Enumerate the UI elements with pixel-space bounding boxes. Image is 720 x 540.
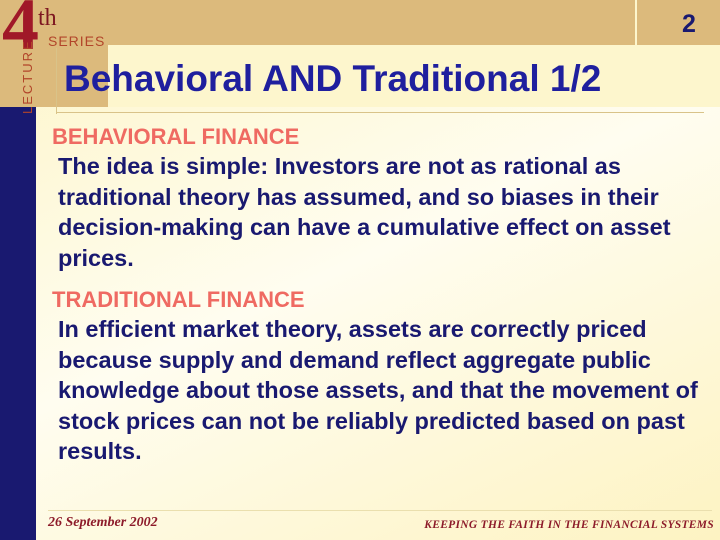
title-vertical-ruleline bbox=[56, 48, 57, 114]
slide-body: BEHAVIORAL FINANCE The idea is simple: I… bbox=[52, 124, 714, 481]
footer-divider bbox=[48, 510, 712, 511]
left-navy-sidebar bbox=[0, 107, 36, 540]
series-label: SERIES bbox=[48, 33, 105, 49]
page-number: 2 bbox=[682, 10, 696, 39]
section-traditional-finance: TRADITIONAL FINANCE In efficient market … bbox=[52, 287, 714, 467]
lecture-number-ordinal: th bbox=[38, 6, 57, 30]
lecture-label-vertical: LECTURE bbox=[20, 22, 35, 114]
section-behavioral-finance: BEHAVIORAL FINANCE The idea is simple: I… bbox=[52, 124, 714, 273]
footer-date: 26 September 2002 bbox=[48, 515, 158, 531]
header-tan-band bbox=[0, 0, 720, 45]
slide-title: Behavioral AND Traditional 1/2 bbox=[64, 60, 714, 99]
section-paragraph: In efficient market theory, assets are c… bbox=[52, 314, 714, 467]
title-underline-rule bbox=[56, 112, 704, 113]
presentation-slide: 4 th SERIES LECTURE 2 Behavioral AND Tra… bbox=[0, 0, 720, 540]
section-heading: BEHAVIORAL FINANCE bbox=[52, 124, 714, 150]
header-vertical-divider bbox=[635, 0, 637, 58]
section-paragraph: The idea is simple: Investors are not as… bbox=[52, 151, 714, 273]
section-heading: TRADITIONAL FINANCE bbox=[52, 287, 714, 313]
footer-tagline: KEEPING THE FAITH IN THE FINANCIAL SYSTE… bbox=[424, 519, 714, 531]
